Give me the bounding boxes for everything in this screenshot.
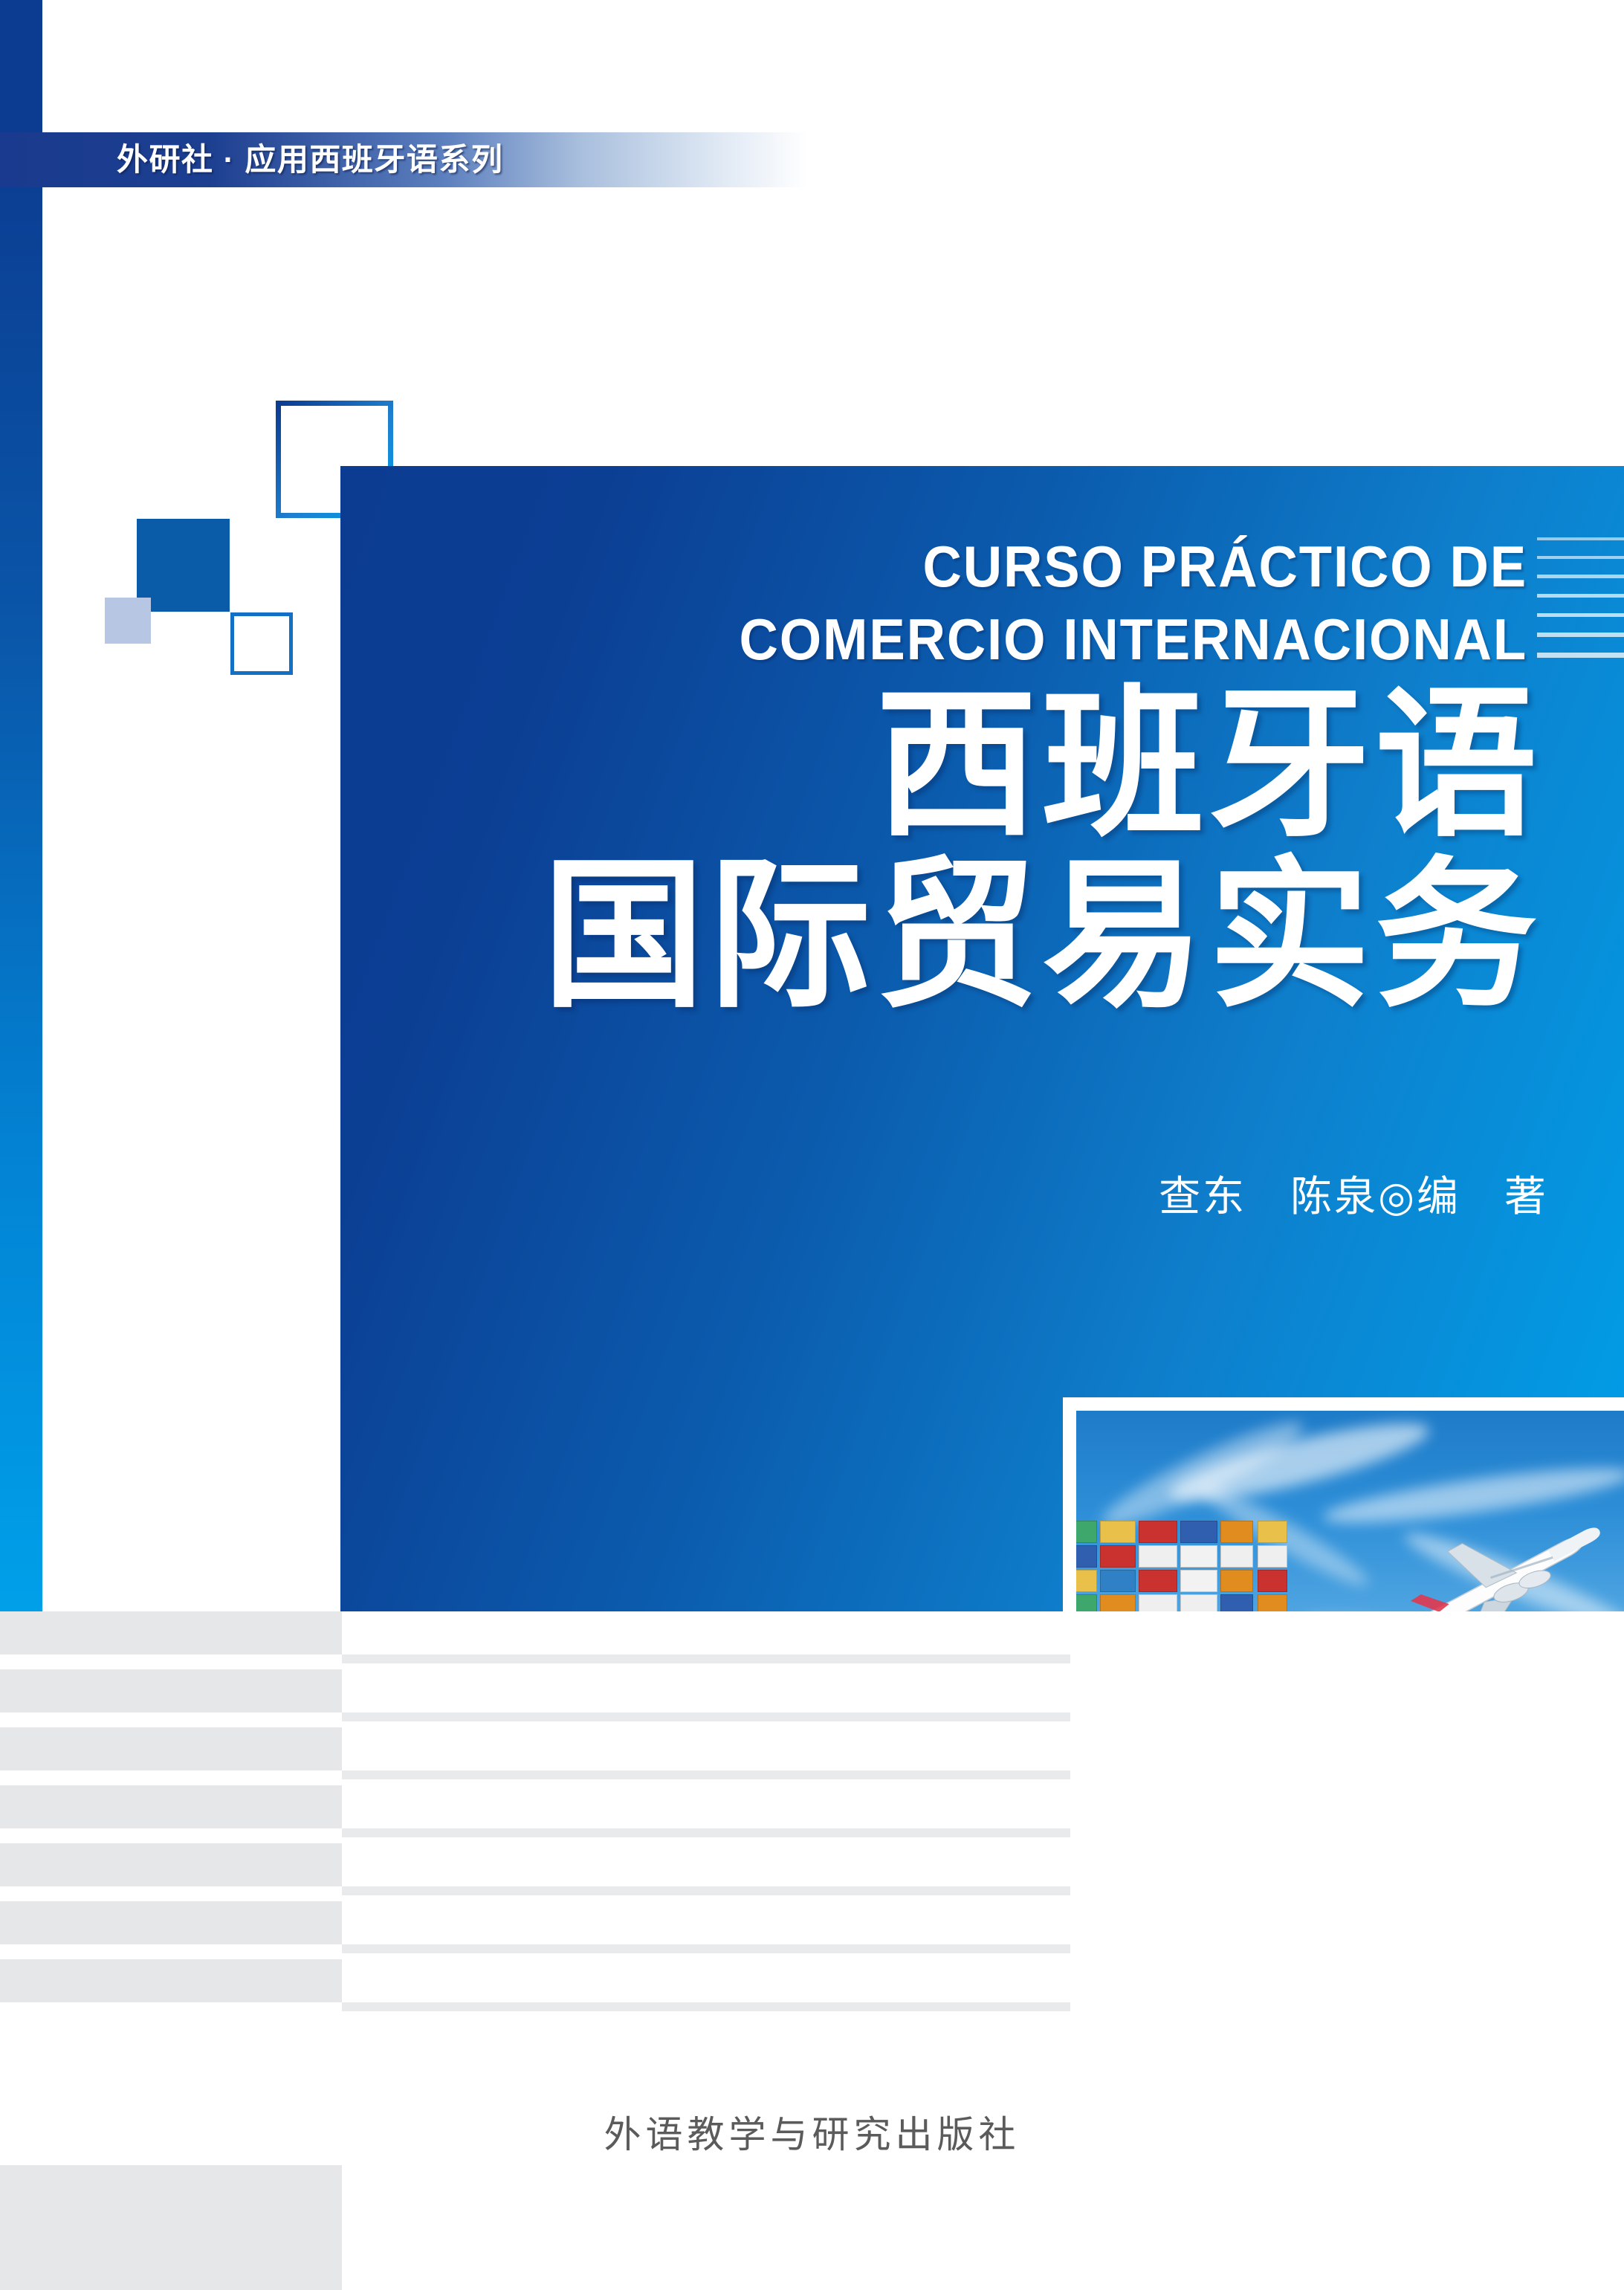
spanish-title: CURSO PRÁCTICO DE COMERCIO INTERNACIONAL	[424, 530, 1527, 676]
stripe-band-left	[0, 1669, 342, 1712]
decorative-rule-stack	[1537, 537, 1624, 673]
stripe-band-left	[0, 1901, 342, 1944]
stripe-band-left	[0, 1959, 342, 2002]
chinese-title-line2: 国际贸易实务	[340, 851, 1541, 1022]
chinese-title: 西班牙语 国际贸易实务	[340, 680, 1541, 1022]
stripe-rule-right	[342, 1886, 1070, 1895]
stripe-band-left	[0, 1611, 342, 1655]
stripe-rule-right	[342, 1770, 1070, 1779]
stripe-band-left	[0, 1843, 342, 1886]
stripe-rule-right	[342, 1712, 1070, 1721]
series-label: 外研社 · 应用西班牙语系列	[117, 137, 711, 183]
stripe-rule-right	[342, 1655, 1070, 1663]
bottom-stripe-zone	[0, 1611, 1624, 2290]
decorative-rule	[1537, 613, 1624, 617]
filled-square-lavender	[105, 598, 151, 644]
stripe-band-left	[0, 1727, 342, 1770]
stripe-block-left	[0, 2165, 342, 2290]
decorative-rule	[1537, 633, 1624, 637]
spanish-title-line2: COMERCIO INTERNACIONAL	[424, 603, 1527, 676]
publisher-name: 外语教学与研究出版社	[0, 2105, 1624, 2158]
decorative-rule	[1537, 575, 1624, 578]
spanish-title-line1: CURSO PRÁCTICO DE	[923, 534, 1527, 599]
left-gradient-spine	[0, 0, 42, 1611]
chinese-title-line1: 西班牙语	[340, 680, 1541, 851]
author-credit: 查东 陈泉◎编 著	[340, 1163, 1548, 1223]
stripe-rule-right	[342, 1828, 1070, 1837]
decorative-rule	[1537, 556, 1624, 559]
decorative-rule	[1537, 594, 1624, 598]
stripe-rule-right	[342, 2002, 1070, 2011]
decorative-rule	[1537, 653, 1624, 658]
decorative-rule	[1537, 537, 1624, 540]
book-cover: 外研社 · 应用西班牙语系列 CURSO PRÁCTICO DE COMERCI…	[0, 0, 1624, 2290]
stripe-rule-right	[342, 1944, 1070, 1953]
stripe-band-left	[0, 1785, 342, 1828]
outlined-square-small	[230, 612, 293, 675]
